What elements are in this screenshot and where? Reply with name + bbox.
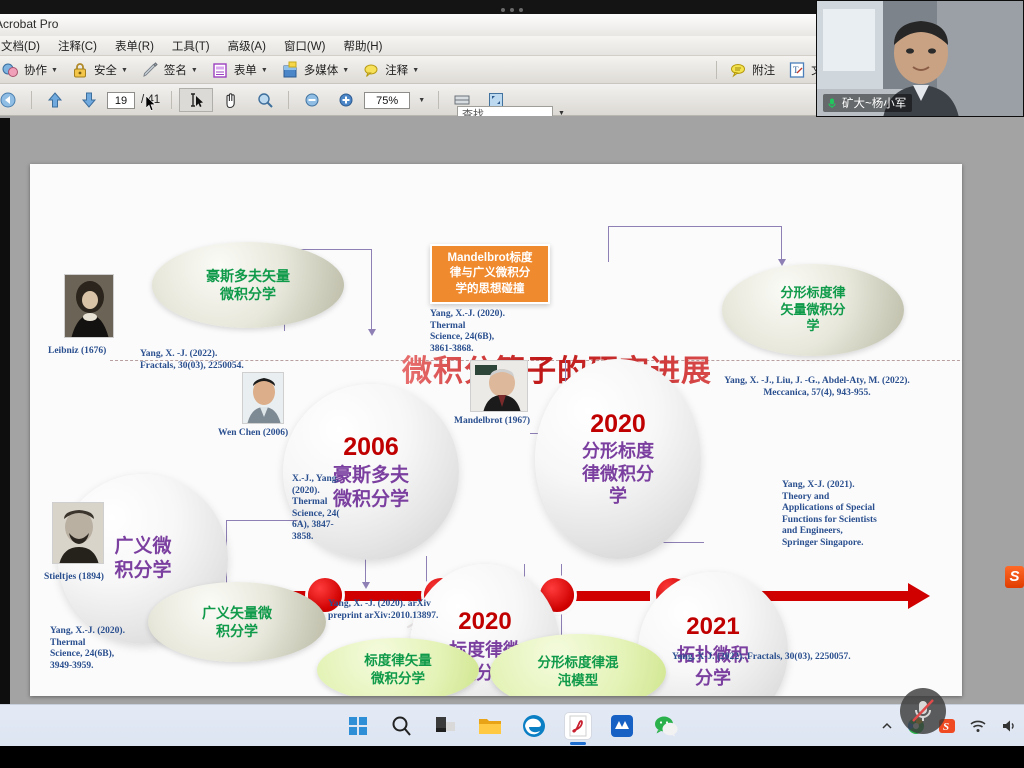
toolbar-collaborate-label: 协作 (24, 62, 47, 78)
webcam-tile[interactable]: 矿大~杨小军 (816, 0, 1024, 117)
toolbar-multimedia-label: 多媒体 (304, 62, 339, 78)
select-text-button[interactable] (179, 88, 213, 112)
toolbar-divider (31, 91, 32, 109)
sphere-topological-2021-year: 2021 (686, 613, 739, 641)
meeting-app-button[interactable] (609, 713, 635, 739)
microphone-muted-icon (908, 696, 938, 726)
taskbar: S (0, 704, 1024, 746)
multimedia-icon (280, 60, 300, 80)
task-view-button[interactable] (433, 713, 459, 739)
zoom-select-icon (255, 90, 275, 110)
chevron-down-icon[interactable]: ▼ (121, 67, 128, 74)
arrowhead-fractal-vector (778, 259, 786, 266)
toolbar-sign-label: 签名 (164, 62, 187, 78)
hand-tool-icon (221, 90, 241, 110)
microphone-muted-indicator (900, 688, 946, 734)
menu-item-forms[interactable]: 表单(R) (106, 38, 163, 54)
sphere-scaling-law-2020-year: 2020 (458, 608, 511, 636)
toolbar-comment[interactable]: 注释 ▼ (355, 58, 425, 82)
zoom-out-button[interactable] (296, 88, 328, 112)
speaker-icon[interactable] (1000, 717, 1018, 735)
page-number-input[interactable]: 19 (107, 92, 135, 109)
wifi-icon[interactable] (969, 717, 987, 735)
toolbar-divider (171, 91, 172, 109)
orange-note-box: Mandelbrot标度律与广义微积分学的思想碰撞 (430, 244, 550, 304)
citation-scaling-law: X.-J., Yang,(2020).ThermalScience, 24(6A… (292, 474, 340, 543)
zoom-in-button[interactable] (330, 88, 362, 112)
sphere-topological-2021-text: 拓扑微积分学 (677, 644, 749, 689)
toolbar-collaborate[interactable]: 协作 ▼ (0, 58, 64, 82)
ellipse-fractal-chaos-model-text: 分形标度律混沌模型 (538, 654, 619, 689)
text-edit-icon: T (787, 60, 807, 80)
form-icon (210, 60, 230, 80)
toolbar-sticky-note[interactable]: 附注 (722, 58, 781, 82)
timeline-arrowhead (908, 583, 930, 609)
menu-item-window[interactable]: 窗口(W) (275, 38, 335, 54)
citation-fractals-2250057: Yang, X-J. (2022). Fractals, 30(03), 225… (672, 652, 851, 664)
ellipse-scaling-law-vector: 标度律矢量微积分学 (317, 638, 479, 696)
webcam-name-label: 矿大~杨小军 (823, 94, 912, 112)
toolbar-comment-label: 注释 (385, 62, 408, 78)
toolbar-divider (716, 61, 717, 79)
pdf-page: 微积分算子的研究进展 百度文库 (30, 164, 962, 696)
hand-tool-button[interactable] (215, 88, 247, 112)
sphere-generalized-calculus-text: 广义微积分学 (114, 535, 171, 583)
window-dots (501, 8, 523, 12)
citation-springer: Yang, X-J. (2021).Theory andApplications… (782, 480, 877, 549)
pen-icon (140, 60, 160, 80)
citation-generalized-vector: Yang, X.-J. (2020).ThermalScience, 24(6B… (50, 626, 125, 672)
mouse-cursor (146, 96, 157, 112)
toolbar-multimedia[interactable]: 多媒体 ▼ (274, 58, 355, 82)
toolbar-security[interactable]: 安全 ▼ (64, 58, 134, 82)
menu-item-tools[interactable]: 工具(T) (163, 38, 219, 54)
wen-chen-caption: Wen Chen (2006) (218, 428, 288, 438)
sphere-fractal-scaling-2020-text: 分形标度律微积分学 (582, 440, 654, 508)
wen-chen-portrait (242, 372, 284, 424)
ellipse-fractal-scaling-vector-text: 分形标度律矢量微积分学 (780, 285, 845, 336)
lock-icon (70, 60, 90, 80)
microphone-icon (826, 97, 838, 109)
citation-arxiv: Yang, X. -J. (2020). arXivpreprint arXiv… (328, 599, 438, 622)
sticky-note-icon (728, 60, 748, 80)
mandelbrot-portrait (470, 360, 528, 412)
toolbar-sign[interactable]: 签名 ▼ (134, 58, 204, 82)
chevron-down-icon[interactable]: ▼ (412, 67, 419, 74)
search-button[interactable] (389, 713, 415, 739)
chevron-down-icon[interactable]: ▼ (191, 67, 198, 74)
chevron-down-icon[interactable]: ▼ (342, 67, 349, 74)
sogou-ime-badge[interactable]: S (1005, 566, 1024, 588)
screen: Acrobat Pro 文档(D) 注释(C) 表单(R) 工具(T) 高级(A… (0, 0, 1024, 768)
zoom-dropdown-icon[interactable]: ▼ (418, 97, 425, 104)
arrowhead-hausdorff-vector (368, 329, 376, 336)
svg-text:T: T (793, 65, 799, 75)
page-up-button[interactable] (39, 88, 71, 112)
comment-icon (361, 60, 381, 80)
mandelbrot-caption: Mandelbrot (1967) (454, 416, 530, 426)
toolbar-security-label: 安全 (94, 62, 117, 78)
zoom-level-input[interactable]: 75% (364, 92, 410, 109)
leibniz-caption: Leibniz (1676) (48, 346, 106, 356)
sphere-hausdorff-2006-year: 2006 (343, 433, 399, 462)
page-up-icon (45, 90, 65, 110)
menu-item-comments[interactable]: 注释(C) (49, 38, 106, 54)
toolbar-forms-label: 表单 (234, 62, 257, 78)
sphere-hausdorff-2006-text: 豪斯多夫微积分学 (333, 464, 409, 512)
toolbar-divider (288, 91, 289, 109)
ellipse-scaling-law-vector-text: 标度律矢量微积分学 (364, 652, 432, 687)
ellipse-generalized-vector-text: 广义矢量微积分学 (202, 604, 272, 640)
citation-mandelbrot-clash: Yang, X.-J. (2020).ThermalScience, 24(6B… (430, 309, 505, 355)
zoom-in-icon (336, 90, 356, 110)
ellipse-fractal-scaling-vector: 分形标度律矢量微积分学 (722, 264, 904, 356)
menu-item-help[interactable]: 帮助(H) (334, 38, 391, 54)
ellipse-hausdorff-vector: 豪斯多夫矢量微积分学 (152, 242, 344, 328)
citation-fractal-vector: Yang, X. -J., Liu, J. -G., Abdel-Aty, M.… (692, 376, 942, 399)
window-title: Acrobat Pro (0, 17, 58, 31)
sphere-fractal-scaling-2020: 2020 分形标度律微积分学 (535, 359, 701, 559)
svg-text:S: S (943, 721, 949, 733)
menu-item-advanced[interactable]: 高级(A) (219, 38, 275, 54)
page-down-button[interactable] (73, 88, 105, 112)
ellipse-generalized-vector: 广义矢量微积分学 (148, 582, 326, 662)
toolbar-divider (438, 91, 439, 109)
zoom-out-icon (302, 90, 322, 110)
zoom-select-button[interactable] (249, 88, 281, 112)
previous-view-button[interactable] (0, 88, 24, 112)
ellipse-hausdorff-vector-text: 豪斯多夫矢量微积分学 (206, 267, 290, 303)
connector-fractal-vector (608, 226, 782, 262)
sphere-fractal-scaling-2020-year: 2020 (590, 410, 646, 439)
citation-hausdorff-vector: Yang, X. -J. (2022).Fractals, 30(03), 22… (140, 349, 244, 372)
navigation-pane-strip[interactable] (0, 118, 10, 704)
start-button[interactable] (345, 713, 371, 739)
toolbar-sticky-note-label: 附注 (752, 62, 775, 78)
acrobat-button[interactable] (565, 713, 591, 739)
previous-view-icon (0, 90, 18, 110)
chevron-up-icon[interactable] (880, 719, 894, 733)
chevron-down-icon[interactable]: ▼ (261, 67, 268, 74)
menu-item-document[interactable]: 文档(D) (0, 38, 49, 54)
edge-button[interactable] (521, 713, 547, 739)
page-down-icon (79, 90, 99, 110)
select-text-icon (186, 90, 206, 110)
stieltjes-caption: Stieltjes (1894) (44, 572, 104, 582)
leibniz-portrait (64, 274, 114, 338)
stieltjes-portrait (52, 502, 104, 564)
file-explorer-button[interactable] (477, 713, 503, 739)
webcam-participant-name: 矿大~杨小军 (842, 95, 906, 111)
wechat-button[interactable] (653, 713, 679, 739)
screen-bottom-bezel (0, 746, 1024, 768)
chevron-down-icon[interactable]: ▼ (51, 67, 58, 74)
orange-note-text: Mandelbrot标度律与广义微积分学的思想碰撞 (448, 251, 533, 297)
pdf-viewer[interactable]: 微积分算子的研究进展 百度文库 (0, 116, 1024, 704)
collaborate-icon (0, 60, 20, 80)
acrobat-window: Acrobat Pro 文档(D) 注释(C) 表单(R) 工具(T) 高级(A… (0, 14, 1024, 704)
arrowhead-generalized-vector (362, 582, 370, 589)
toolbar-forms[interactable]: 表单 ▼ (204, 58, 274, 82)
